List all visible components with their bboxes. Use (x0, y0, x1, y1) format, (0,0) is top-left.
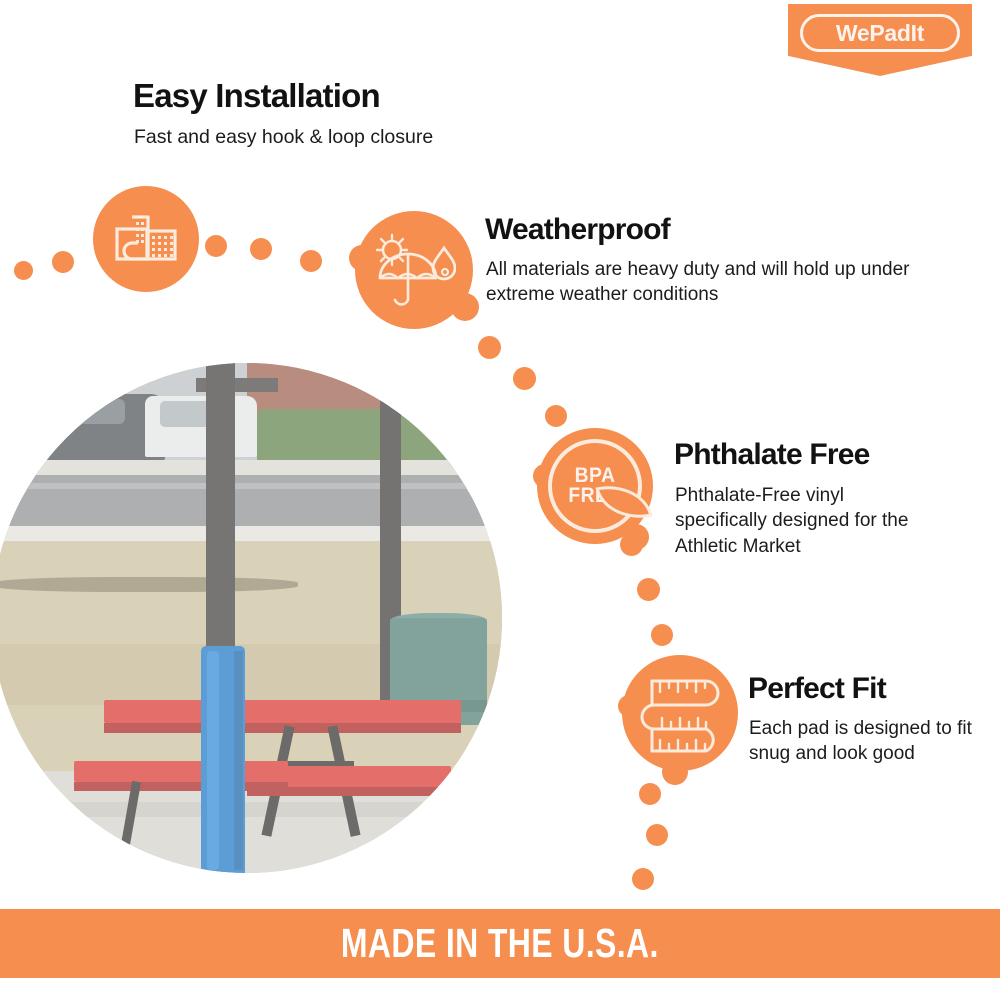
infographic-page: WePadIt Easy Installation Fast and easy … (0, 0, 1000, 987)
brand-logo[interactable]: WePadIt (788, 4, 972, 76)
made-in-usa-text: MADE IN THE U.S.A. (341, 920, 659, 967)
photo-pole-pad-highlight (207, 651, 219, 870)
made-in-usa-banner: MADE IN THE U.S.A. (0, 909, 1000, 978)
logo-outline-frame: WePadIt (800, 14, 960, 52)
feature-description-weatherproof: All materials are heavy duty and will ho… (486, 257, 911, 308)
measuring-tape-icon (636, 673, 724, 753)
feature-title-perfect-fit: Perfect Fit (748, 673, 886, 705)
product-photo (0, 363, 502, 873)
trail-dot (250, 238, 272, 260)
icon-blob-bump (623, 524, 649, 550)
trail-dot (513, 367, 536, 390)
feature-icon-phthalate-free: BPA FREE (537, 428, 653, 544)
trail-dot (639, 783, 661, 805)
feature-description-perfect-fit: Each pad is designed to fit snug and loo… (749, 716, 974, 767)
icon-blob-bump (451, 293, 479, 321)
feature-icon-easy-installation (93, 186, 199, 292)
trail-dot (637, 578, 660, 601)
trail-dot (646, 824, 668, 846)
photo-picnic-tabletop (104, 700, 461, 723)
photo-pole-pad-shadow (234, 651, 243, 870)
feature-title-easy-installation: Easy Installation (133, 79, 380, 114)
photo-vehicle-dark-window (43, 399, 125, 425)
photo-bench-near-edge (74, 782, 288, 791)
photo-grass-patch (0, 577, 298, 592)
buildings-installation-icon (115, 213, 177, 265)
icon-blob-bump (662, 759, 688, 785)
photo-curb-upper (0, 460, 502, 475)
trail-dot (52, 251, 74, 273)
trail-dot (478, 336, 501, 359)
trail-dot (205, 235, 227, 257)
logo-text: WePadIt (836, 22, 924, 45)
icon-blob-bump (349, 245, 375, 271)
feature-title-phthalate-free: Phthalate Free (674, 439, 870, 471)
photo-curb-lower (0, 526, 502, 541)
trail-dot (545, 405, 567, 427)
photo-sidewalk-seam (0, 802, 502, 817)
icon-blob-bump (618, 695, 640, 717)
trail-dot (300, 250, 322, 272)
trail-dot (651, 624, 673, 646)
photo-main-post (206, 363, 235, 669)
trail-dot (632, 868, 654, 890)
feature-description-phthalate-free: Phthalate-Free vinyl specifically design… (675, 483, 935, 559)
photo-road-line (0, 483, 502, 489)
feature-icon-perfect-fit (622, 655, 738, 771)
photo-bench-near (74, 761, 288, 782)
feature-title-weatherproof: Weatherproof (485, 214, 670, 246)
sun-umbrella-raindrop-icon (372, 232, 456, 308)
logo-text-we: We (836, 20, 870, 46)
feature-icon-weatherproof (355, 211, 473, 329)
logo-text-it: It (911, 20, 924, 46)
trail-dot (14, 261, 33, 280)
feature-description-easy-installation: Fast and easy hook & loop closure (134, 125, 554, 151)
bpa-line-1: BPA (568, 466, 621, 486)
logo-text-pad: Pad (869, 20, 910, 46)
